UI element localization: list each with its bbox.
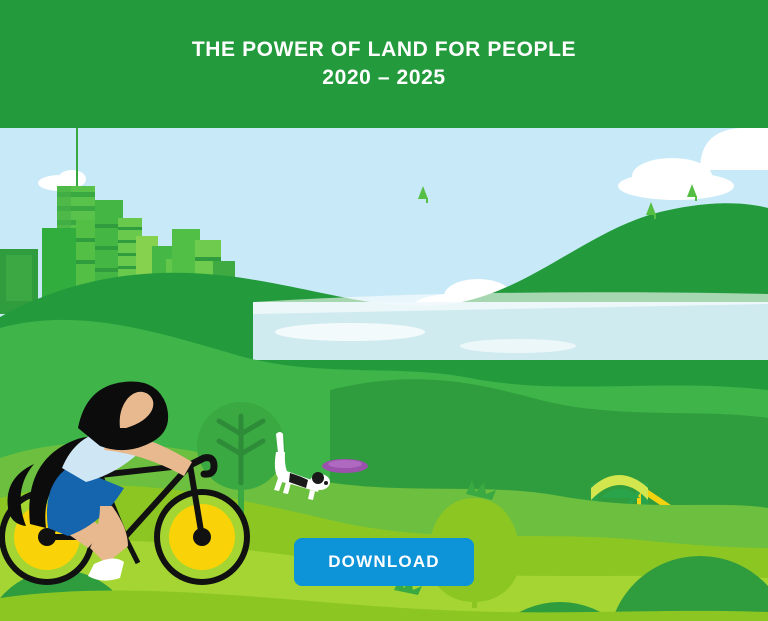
page-subtitle: 2020 – 2025 — [322, 65, 445, 91]
frisbee — [322, 459, 368, 473]
promo-page: THE POWER OF LAND FOR PEOPLE 2020 – 2025 — [0, 0, 768, 621]
lake — [253, 292, 768, 360]
page-title: THE POWER OF LAND FOR PEOPLE — [192, 37, 576, 63]
download-button[interactable]: DOWNLOAD — [294, 538, 474, 586]
header-banner: THE POWER OF LAND FOR PEOPLE 2020 – 2025 — [0, 0, 768, 128]
